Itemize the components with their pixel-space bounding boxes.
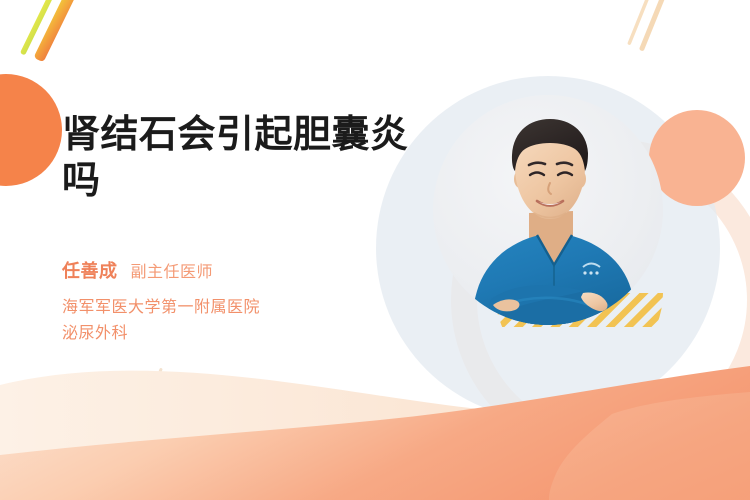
top-right-stripes	[627, 0, 673, 52]
doctor-name: 任善成	[62, 257, 118, 283]
page-title: 肾结石会引起胆囊炎吗	[62, 112, 422, 205]
doctor-affiliation: 海军军医大学第一附属医院 泌尿外科	[62, 295, 422, 347]
doctor-department: 泌尿外科	[62, 321, 422, 347]
portrait-photo	[469, 119, 639, 327]
peach-circle	[649, 110, 745, 206]
text-content: 肾结石会引起胆囊炎吗 任善成 副主任医师 海军军医大学第一附属医院 泌尿外科	[62, 112, 422, 347]
doctor-illustration	[433, 95, 663, 327]
doctor-hospital: 海军军医大学第一附属医院	[62, 295, 422, 321]
doctor-portrait	[433, 95, 663, 327]
top-left-stripes	[20, 0, 86, 62]
orange-circle	[0, 74, 62, 186]
doctor-byline: 任善成 副主任医师	[62, 257, 422, 283]
doctor-question-card: 肾结石会引起胆囊炎吗 任善成 副主任医师 海军军医大学第一附属医院 泌尿外科	[0, 0, 750, 500]
doctor-job-title: 副主任医师	[131, 258, 214, 282]
